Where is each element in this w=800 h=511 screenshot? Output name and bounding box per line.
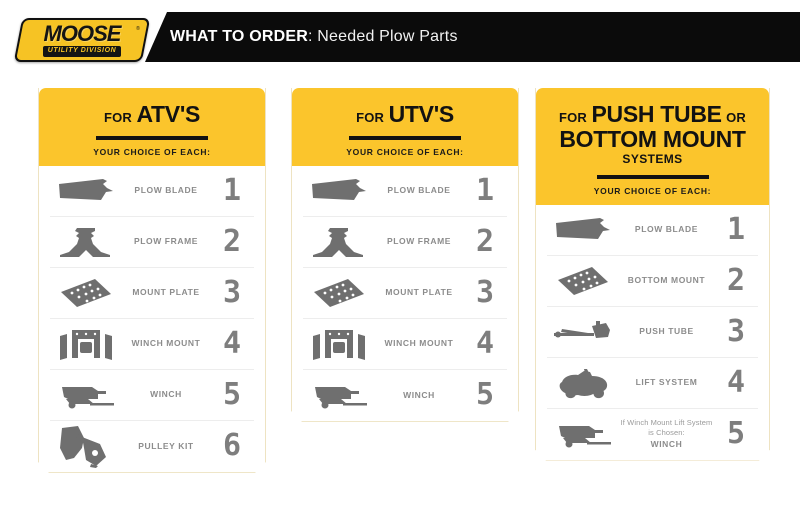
card-push-tube-title-main2: BOTTOM MOUNT	[546, 127, 759, 152]
part-label: PLOW BLADE	[375, 185, 463, 196]
logo-tagline: UTILITY DIVISION	[43, 46, 122, 56]
card-push-tube: FOR PUSH TUBE OR BOTTOM MOUNT SYSTEMS YO…	[535, 88, 770, 461]
moose-utility-division-logo: MOOSE UTILITY DIVISION ®	[14, 18, 151, 62]
plow-frame-icon	[50, 227, 122, 257]
page-title-light: : Needed Plow Parts	[308, 28, 458, 45]
page-title: WHAT TO ORDER: Needed Plow Parts	[170, 28, 458, 46]
card-atv: FOR ATV'S YOUR CHOICE OF EACH: PLOW BLAD…	[38, 88, 266, 473]
part-label: If Winch Mount Lift System is Chosen:WIN…	[619, 418, 714, 450]
winch-icon	[50, 380, 122, 410]
part-number: 5	[714, 419, 758, 449]
part-row: MOUNT PLATE3	[303, 268, 507, 319]
card-utv-header: FOR UTV'S YOUR CHOICE OF EACH:	[292, 88, 518, 166]
part-label: WINCH MOUNT	[122, 338, 210, 349]
divider	[597, 175, 709, 179]
winch-icon	[547, 419, 619, 449]
part-row: WINCH MOUNT4	[50, 319, 254, 370]
card-push-tube-choice-label: YOUR CHOICE OF EACH:	[546, 186, 759, 196]
part-number: 2	[714, 266, 758, 296]
part-number: 1	[463, 176, 507, 206]
part-note: If Winch Mount Lift System is Chosen:	[619, 418, 714, 438]
card-utv-choice-label: YOUR CHOICE OF EACH:	[302, 147, 508, 157]
part-label: BOTTOM MOUNT	[619, 275, 714, 286]
plow-blade-icon	[50, 178, 122, 204]
part-label: LIFT SYSTEM	[619, 377, 714, 388]
card-push-tube-title-or: OR	[726, 110, 746, 125]
part-label-text: WINCH	[651, 439, 683, 449]
part-number: 5	[210, 380, 254, 410]
atv-lift-system-icon	[547, 366, 619, 400]
push-tube-icon	[547, 320, 619, 344]
page-header: WHAT TO ORDER: Needed Plow Parts MOOSE U…	[0, 0, 800, 72]
part-row: PLOW FRAME2	[50, 217, 254, 268]
winch-mount-icon	[303, 328, 375, 360]
card-push-tube-title-prefix: FOR	[559, 110, 587, 125]
plow-frame-icon	[303, 227, 375, 257]
card-atv-choice-label: YOUR CHOICE OF EACH:	[49, 147, 255, 157]
logo-wordmark: MOOSE	[44, 23, 121, 45]
card-atv-title: FOR ATV'S	[49, 102, 255, 127]
card-push-tube-title: FOR PUSH TUBE OR BOTTOM MOUNT SYSTEMS	[546, 102, 759, 166]
bottom-mount-icon	[547, 266, 619, 296]
part-label: PLOW FRAME	[375, 236, 463, 247]
part-label: WINCH	[122, 389, 210, 400]
part-number: 3	[714, 317, 758, 347]
winch-mount-icon	[50, 328, 122, 360]
card-atv-title-prefix: FOR	[104, 110, 132, 125]
part-label: PLOW BLADE	[619, 224, 714, 235]
part-row: MOUNT PLATE3	[50, 268, 254, 319]
part-number: 1	[210, 176, 254, 206]
part-row: PUSH TUBE3	[547, 307, 758, 358]
part-row: PLOW BLADE1	[547, 205, 758, 256]
card-utv-title-prefix: FOR	[356, 110, 384, 125]
plow-blade-icon	[547, 217, 619, 243]
part-label: WINCH MOUNT	[375, 338, 463, 349]
part-number: 4	[463, 329, 507, 359]
part-label: MOUNT PLATE	[122, 287, 210, 298]
part-row: WINCH5	[303, 370, 507, 421]
part-number: 6	[210, 431, 254, 461]
part-row: PLOW BLADE1	[303, 166, 507, 217]
card-utv-items: PLOW BLADE1PLOW FRAME2MOUNT PLATE3WINCH …	[292, 166, 518, 421]
card-atv-title-main: ATV'S	[136, 101, 200, 127]
pulley-kit-icon	[50, 424, 122, 468]
part-row: WINCH5	[50, 370, 254, 421]
part-label: PULLEY KIT	[122, 441, 210, 452]
part-number: 4	[714, 368, 758, 398]
plow-blade-icon	[303, 178, 375, 204]
part-row: BOTTOM MOUNT2	[547, 256, 758, 307]
mount-plate-icon	[50, 278, 122, 308]
part-label: PLOW FRAME	[122, 236, 210, 247]
card-utv-title: FOR UTV'S	[302, 102, 508, 127]
part-number: 5	[463, 380, 507, 410]
part-row: PULLEY KIT6	[50, 421, 254, 472]
card-atv-header: FOR ATV'S YOUR CHOICE OF EACH:	[39, 88, 265, 166]
part-row: PLOW FRAME2	[303, 217, 507, 268]
part-row: WINCH MOUNT4	[303, 319, 507, 370]
part-number: 3	[463, 278, 507, 308]
registered-trademark-icon: ®	[136, 26, 140, 32]
part-number: 2	[463, 227, 507, 257]
part-row: If Winch Mount Lift System is Chosen:WIN…	[547, 409, 758, 460]
card-utv: FOR UTV'S YOUR CHOICE OF EACH: PLOW BLAD…	[291, 88, 519, 422]
winch-icon	[303, 380, 375, 410]
part-number: 4	[210, 329, 254, 359]
part-label: WINCH	[375, 390, 463, 401]
part-label: PLOW BLADE	[122, 185, 210, 196]
divider	[96, 136, 208, 140]
part-row: LIFT SYSTEM4	[547, 358, 758, 409]
part-row: PLOW BLADE1	[50, 166, 254, 217]
part-number: 2	[210, 227, 254, 257]
card-atv-items: PLOW BLADE1PLOW FRAME2MOUNT PLATE3WINCH …	[39, 166, 265, 472]
card-push-tube-title-main: PUSH TUBE	[591, 101, 721, 127]
divider	[349, 136, 461, 140]
card-push-tube-header: FOR PUSH TUBE OR BOTTOM MOUNT SYSTEMS YO…	[536, 88, 769, 205]
mount-plate-icon	[303, 278, 375, 308]
card-push-tube-title-systems: SYSTEMS	[546, 153, 759, 166]
part-number: 3	[210, 278, 254, 308]
card-utv-title-main: UTV'S	[389, 101, 454, 127]
page-title-strong: WHAT TO ORDER	[170, 28, 308, 45]
part-label: MOUNT PLATE	[375, 287, 463, 298]
part-label: PUSH TUBE	[619, 326, 714, 337]
part-number: 1	[714, 215, 758, 245]
card-push-tube-items: PLOW BLADE1BOTTOM MOUNT2PUSH TUBE3LIFT S…	[536, 205, 769, 460]
